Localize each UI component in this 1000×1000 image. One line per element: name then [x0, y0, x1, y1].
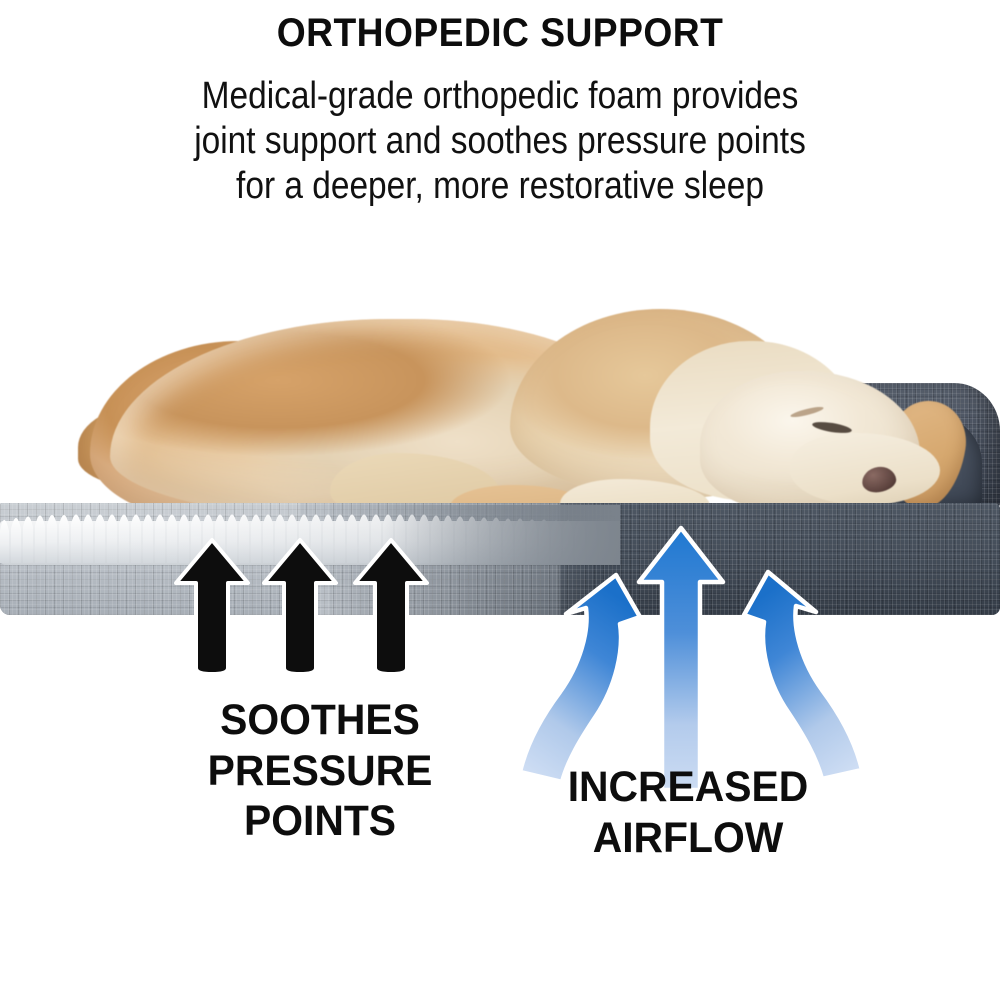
left-caption-line-1: SOOTHES	[130, 695, 510, 746]
left-caption-line-2: PRESSURE	[130, 746, 510, 797]
product-feature-graphic: ORTHOPEDIC SUPPORT Medical-grade orthope…	[0, 0, 1000, 1000]
right-caption-line-1: INCREASED	[498, 762, 878, 813]
dog-eyebrow	[790, 405, 824, 419]
left-caption-line-3: POINTS	[130, 796, 510, 847]
description-block: Medical-grade orthopedic foam provides j…	[60, 74, 940, 208]
description-line-3: for a deeper, more restorative sleep	[60, 164, 940, 209]
product-photo	[0, 255, 1000, 635]
soothes-pressure-points-label: SOOTHES PRESSURE POINTS	[130, 695, 510, 847]
description-line-2: joint support and soothes pressure point…	[60, 119, 940, 164]
dog-closed-eye	[812, 420, 853, 435]
dog-body	[110, 319, 670, 523]
page-title: ORTHOPEDIC SUPPORT	[35, 12, 965, 54]
dog-muzzle	[790, 433, 940, 505]
foam-cutaway-blend	[380, 505, 620, 565]
dog-tail	[78, 403, 253, 491]
dog-fur-detail	[90, 283, 920, 523]
increased-airflow-label: INCREASED AIRFLOW	[498, 762, 878, 863]
right-caption-line-2: AIRFLOW	[498, 813, 878, 864]
sleeping-dog	[90, 283, 920, 523]
dog-head	[700, 371, 920, 517]
description-line-1: Medical-grade orthopedic foam provides	[60, 74, 940, 119]
egg-crate-foam-layer	[0, 505, 620, 563]
dog-neck	[650, 341, 860, 501]
dog-nose	[860, 465, 897, 494]
dog-hindquarters	[90, 341, 360, 523]
dog-shoulder	[510, 309, 810, 499]
